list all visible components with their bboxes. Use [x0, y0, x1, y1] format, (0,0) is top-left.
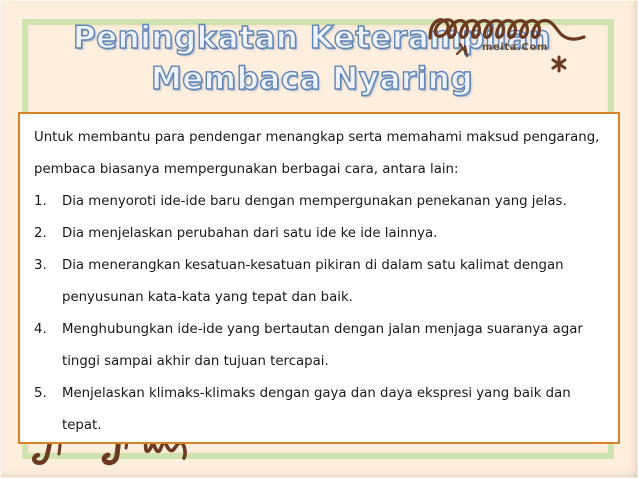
- list-item: 4. Menghubungkan ide-ide yang bertautan …: [30, 314, 606, 378]
- list-item-text: Dia menjelaskan perubahan dari satu ide …: [62, 226, 437, 241]
- list-item-number: 3.: [34, 250, 56, 282]
- list-item-number: 1.: [34, 186, 56, 218]
- list-item-text: Menjelaskan klimaks-klimaks dengan gaya …: [62, 386, 571, 433]
- list-item-number: 2.: [34, 218, 56, 250]
- list-item-number: 4.: [34, 314, 56, 346]
- intro-paragraph: Untuk membantu para pendengar menangkap …: [30, 122, 606, 186]
- method-list: 1. Dia menyoroti ide-ide baru dengan mem…: [30, 186, 606, 442]
- list-item: 5. Menjelaskan klimaks-klimaks dengan ga…: [30, 378, 606, 442]
- list-item: 2. Dia menjelaskan perubahan dari satu i…: [30, 218, 606, 250]
- content-card: Untuk membantu para pendengar menangkap …: [18, 112, 620, 444]
- title-line-1: Peningkatan Keterampilan: [34, 18, 590, 59]
- list-item: 1. Dia menyoroti ide-ide baru dengan mem…: [30, 186, 606, 218]
- list-item-text: Menghubungkan ide-ide yang bertautan den…: [62, 322, 583, 369]
- title-line-2: Membaca Nyaring: [34, 59, 590, 100]
- content-body: Untuk membantu para pendengar menangkap …: [30, 122, 606, 442]
- list-item-number: 5.: [34, 378, 56, 410]
- list-item-text: Dia menerangkan kesatuan-kesatuan pikira…: [62, 258, 564, 305]
- slide-title: Peningkatan Keterampilan Membaca Nyaring: [34, 18, 590, 100]
- list-item: 3. Dia menerangkan kesatuan-kesatuan pik…: [30, 250, 606, 314]
- slide-canvas: Peningkatan Keterampilan Membaca Nyaring…: [0, 0, 638, 478]
- list-item-text: Dia menyoroti ide-ide baru dengan memper…: [62, 194, 567, 209]
